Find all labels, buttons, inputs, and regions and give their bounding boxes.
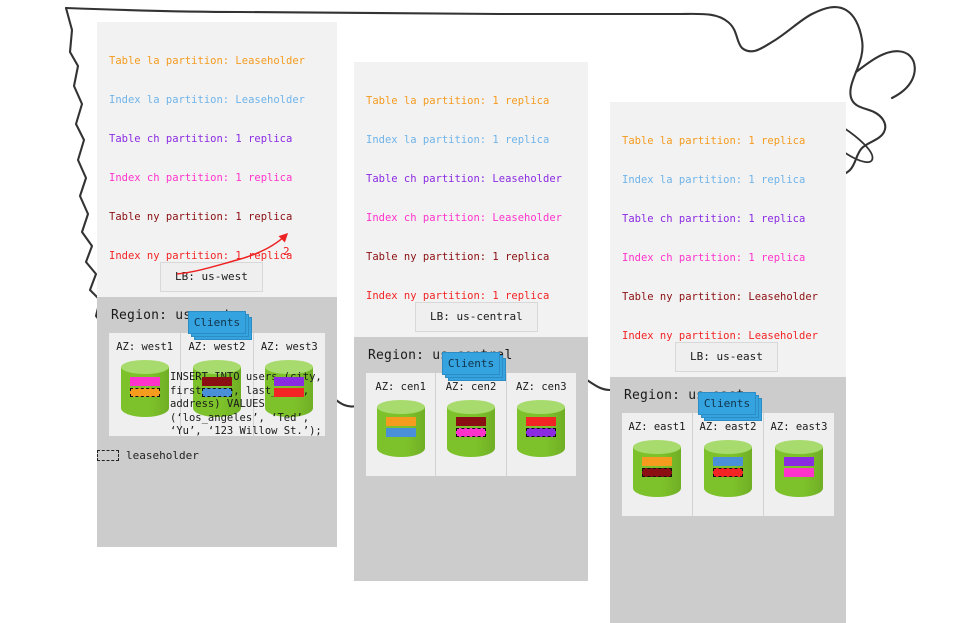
az-label: AZ: east3 xyxy=(764,421,834,433)
partition-legend-us-west: Table la partition: Leaseholder Index la… xyxy=(97,22,337,297)
partition-line: Table ny partition: 1 replica xyxy=(366,251,576,264)
clients-sheet-front[interactable]: Clients xyxy=(188,311,246,334)
node-cylinder[interactable] xyxy=(517,400,565,462)
replica-bar xyxy=(526,417,556,426)
partition-line: Index ch partition: 1 replica xyxy=(109,172,325,185)
node-cylinder[interactable] xyxy=(775,440,823,502)
partition-line: Index la partition: 1 replica xyxy=(622,174,834,187)
az-label: AZ: east2 xyxy=(693,421,763,433)
partition-line: Index ch partition: Leaseholder xyxy=(366,212,576,225)
clients-sheet-front[interactable]: Clients xyxy=(442,352,500,375)
replica-bar xyxy=(386,428,416,437)
node-cylinder[interactable] xyxy=(447,400,495,462)
clients-label: Clients xyxy=(704,397,750,410)
az-row-us-east: AZ: east1 AZ: east2 xyxy=(622,413,834,516)
az-label: AZ: west1 xyxy=(109,341,180,353)
replica-bar xyxy=(274,377,304,386)
leaseholder-legend: leaseholder xyxy=(97,449,199,462)
az-row-us-central: AZ: cen1 AZ: cen2 xyxy=(366,373,576,476)
replica-bars xyxy=(193,377,241,397)
az-east1[interactable]: AZ: east1 xyxy=(622,413,692,516)
replica-bar xyxy=(202,377,232,386)
partition-line: Index la partition: 1 replica xyxy=(366,134,576,147)
replica-bar-leaseholder xyxy=(130,388,160,397)
cylinder-top xyxy=(377,400,425,414)
cylinder-top xyxy=(633,440,681,454)
replica-bar xyxy=(784,468,814,477)
clients-us-central[interactable]: Clients xyxy=(442,352,504,378)
replica-bar xyxy=(386,417,416,426)
replica-bar xyxy=(274,388,304,397)
az-label: AZ: east1 xyxy=(622,421,692,433)
replica-bar xyxy=(784,457,814,466)
partition-legend-us-central: Table la partition: 1 replica Index la p… xyxy=(354,62,588,337)
replica-bars xyxy=(121,377,169,397)
replica-bar xyxy=(642,457,672,466)
replica-bars xyxy=(265,377,313,397)
clients-label: Clients xyxy=(448,357,494,370)
az-label: AZ: cen3 xyxy=(507,381,576,393)
az-east2[interactable]: AZ: east2 xyxy=(692,413,763,516)
az-cen3[interactable]: AZ: cen3 xyxy=(506,373,576,476)
partition-line: Table ch partition: 1 replica xyxy=(109,133,325,146)
partition-line: Table la partition: Leaseholder xyxy=(109,55,325,68)
dashed-rect-icon xyxy=(97,450,119,461)
cylinder-top xyxy=(704,440,752,454)
load-balancer-us-west[interactable]: LB: us-west xyxy=(160,262,263,292)
partition-line: Table ny partition: 1 replica xyxy=(109,211,325,224)
clients-sheet-front[interactable]: Clients xyxy=(698,392,756,415)
replica-bar-leaseholder xyxy=(642,468,672,477)
clients-label: Clients xyxy=(194,316,240,329)
cylinder-top xyxy=(447,400,495,414)
replica-bar-leaseholder xyxy=(456,428,486,437)
load-balancer-us-east[interactable]: LB: us-east xyxy=(675,342,778,372)
cylinder-top xyxy=(775,440,823,454)
cylinder-top xyxy=(121,360,169,374)
replica-bar-leaseholder xyxy=(526,428,556,437)
node-cylinder[interactable] xyxy=(704,440,752,502)
partition-line: Table ch partition: Leaseholder xyxy=(366,173,576,186)
partition-line: Table la partition: 1 replica xyxy=(366,95,576,108)
node-cylinder[interactable] xyxy=(121,360,169,422)
az-label: AZ: west2 xyxy=(181,341,252,353)
diagram-canvas: Table la partition: Leaseholder Index la… xyxy=(0,0,960,540)
clients-us-west[interactable]: Clients xyxy=(188,311,250,337)
az-label: AZ: cen2 xyxy=(436,381,505,393)
replica-bars xyxy=(377,417,425,437)
clients-us-east[interactable]: Clients xyxy=(698,392,760,418)
replica-bar xyxy=(130,377,160,386)
cylinder-top xyxy=(517,400,565,414)
node-cylinder[interactable] xyxy=(377,400,425,462)
node-cylinder[interactable] xyxy=(633,440,681,502)
partition-line: Table ny partition: Leaseholder xyxy=(622,291,834,304)
az-label: AZ: cen1 xyxy=(366,381,435,393)
az-cen2[interactable]: AZ: cen2 xyxy=(435,373,505,476)
partition-legend-us-east: Table la partition: 1 replica Index la p… xyxy=(610,102,846,377)
replica-bars xyxy=(517,417,565,437)
annotation-label-2: 2 xyxy=(283,245,290,258)
partition-line: Index ch partition: 1 replica xyxy=(622,252,834,265)
load-balancer-us-central[interactable]: LB: us-central xyxy=(415,302,538,332)
az-label: AZ: west3 xyxy=(254,341,325,353)
partition-line: Table ch partition: 1 replica xyxy=(622,213,834,226)
leaseholder-legend-label: leaseholder xyxy=(126,449,199,462)
az-cen1[interactable]: AZ: cen1 xyxy=(366,373,435,476)
partition-line: Table la partition: 1 replica xyxy=(622,135,834,148)
replica-bars xyxy=(775,457,823,477)
partition-line: Index la partition: Leaseholder xyxy=(109,94,325,107)
replica-bar xyxy=(713,457,743,466)
replica-bars xyxy=(633,457,681,477)
az-east3[interactable]: AZ: east3 xyxy=(763,413,834,516)
replica-bar-leaseholder xyxy=(713,468,743,477)
replica-bar xyxy=(456,417,486,426)
replica-bar-leaseholder xyxy=(202,388,232,397)
replica-bars xyxy=(704,457,752,477)
replica-bars xyxy=(447,417,495,437)
